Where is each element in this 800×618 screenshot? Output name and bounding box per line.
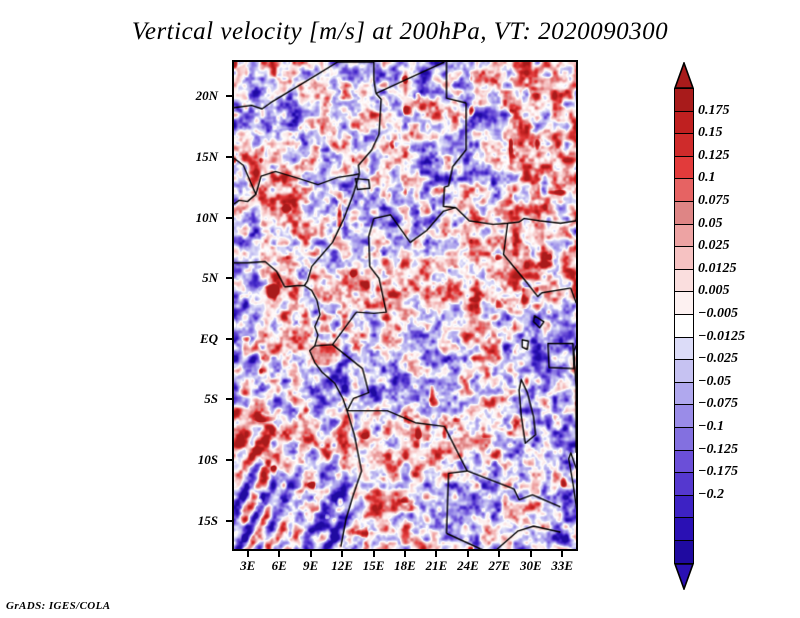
colorbar-tick-label: 0.005 [698, 283, 730, 299]
colorbar-swatch [674, 450, 694, 474]
colorbar-swatch [674, 404, 694, 428]
lat-tick [226, 217, 232, 219]
lat-tick-label: 15S [158, 513, 218, 529]
lat-tick [226, 95, 232, 97]
vertical-velocity-heatmap [234, 62, 576, 549]
grads-credit: GrADS: IGES/COLA [6, 600, 111, 612]
colorbar-swatch [674, 201, 694, 225]
colorbar-tick-label: −0.05 [698, 374, 731, 390]
colorbar-max-arrow-icon [674, 62, 694, 88]
lon-tick [247, 551, 249, 557]
lat-tick-label: EQ [158, 331, 218, 347]
colorbar-tick-label: −0.0125 [698, 329, 745, 345]
lat-tick [226, 520, 232, 522]
colorbar-swatch [674, 427, 694, 451]
colorbar-tick-label: −0.1 [698, 419, 724, 435]
colorbar-swatch [674, 269, 694, 293]
colorbar: 0.1750.150.1250.10.0750.050.0250.01250.0… [674, 62, 694, 562]
lat-tick-label: 5N [158, 270, 218, 286]
colorbar-swatch [674, 472, 694, 496]
lon-tick [530, 551, 532, 557]
lat-tick [226, 459, 232, 461]
lon-tick [498, 551, 500, 557]
lon-tick [341, 551, 343, 557]
colorbar-tick-label: 0.075 [698, 193, 730, 209]
colorbar-min-arrow-icon [674, 563, 694, 589]
lat-tick [226, 338, 232, 340]
lat-tick [226, 156, 232, 158]
colorbar-tick-label: −0.005 [698, 306, 738, 322]
colorbar-tick-label: 0.1 [698, 170, 716, 186]
colorbar-tick-label: 0.15 [698, 125, 723, 141]
colorbar-swatch [674, 382, 694, 406]
lat-tick-label: 10N [158, 210, 218, 226]
colorbar-swatch [674, 540, 694, 564]
map-plot-area [232, 60, 578, 551]
colorbar-swatch [674, 224, 694, 248]
colorbar-tick-label: −0.2 [698, 487, 724, 503]
lat-tick [226, 398, 232, 400]
colorbar-tick-label: 0.05 [698, 216, 723, 232]
lon-tick [467, 551, 469, 557]
colorbar-swatch [674, 88, 694, 112]
colorbar-tick-label: 0.025 [698, 238, 730, 254]
lat-tick-label: 10S [158, 452, 218, 468]
colorbar-swatch [674, 111, 694, 135]
colorbar-swatch [674, 156, 694, 180]
lon-tick [373, 551, 375, 557]
colorbar-swatch [674, 517, 694, 541]
colorbar-swatch [674, 359, 694, 383]
page-title: Vertical velocity [m/s] at 200hPa, VT: 2… [0, 18, 800, 46]
lat-tick [226, 277, 232, 279]
colorbar-swatch [674, 495, 694, 519]
lon-tick [278, 551, 280, 557]
lat-tick-label: 5S [158, 391, 218, 407]
lon-tick-label: 33E [537, 558, 587, 574]
colorbar-swatch [674, 178, 694, 202]
lon-tick [435, 551, 437, 557]
lon-tick [404, 551, 406, 557]
colorbar-swatch [674, 314, 694, 338]
lat-tick-label: 20N [158, 88, 218, 104]
colorbar-swatch [674, 133, 694, 157]
colorbar-tick-label: −0.175 [698, 464, 738, 480]
colorbar-swatch [674, 337, 694, 361]
lon-tick [561, 551, 563, 557]
colorbar-tick-label: −0.075 [698, 396, 738, 412]
colorbar-tick-label: 0.0125 [698, 261, 737, 277]
lat-tick-label: 15N [158, 149, 218, 165]
colorbar-tick-label: 0.175 [698, 103, 730, 119]
lon-tick [310, 551, 312, 557]
colorbar-swatch [674, 291, 694, 315]
colorbar-tick-label: −0.025 [698, 351, 738, 367]
colorbar-swatch [674, 246, 694, 270]
colorbar-tick-label: −0.125 [698, 442, 738, 458]
colorbar-tick-label: 0.125 [698, 148, 730, 164]
